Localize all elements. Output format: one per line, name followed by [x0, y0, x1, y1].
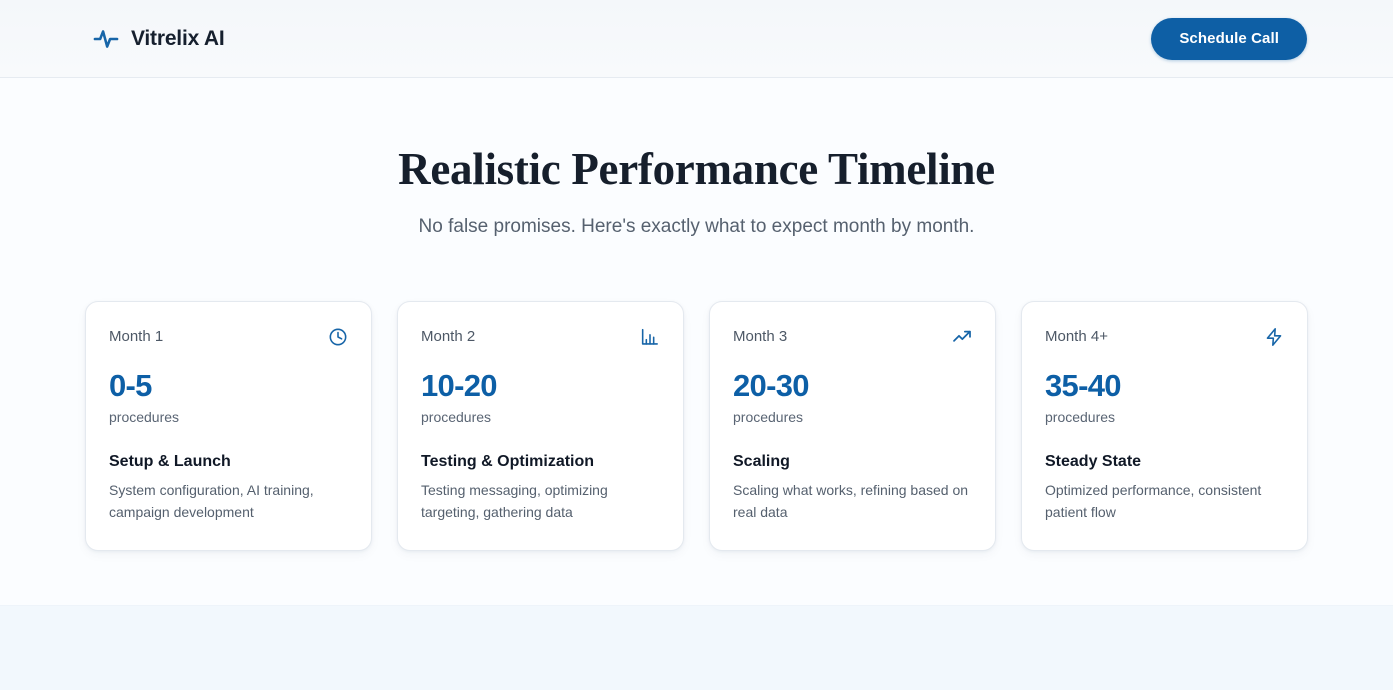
clock-icon: [328, 327, 348, 347]
card-month-label: Month 1: [109, 329, 163, 344]
card-header: Month 2: [421, 326, 660, 348]
card-header: Month 3: [733, 326, 972, 348]
card-range-value: 35-40: [1045, 369, 1284, 402]
card-header: Month 4+: [1045, 326, 1284, 348]
card-description: Optimized performance, consistent patien…: [1045, 480, 1284, 523]
card-month-label: Month 4+: [1045, 329, 1108, 344]
activity-pulse-icon: [92, 25, 120, 53]
card-range-value: 10-20: [421, 369, 660, 402]
timeline-cards-row: Month 1 0-5 procedures Setup & Launch Sy…: [0, 301, 1393, 551]
timeline-card[interactable]: Month 4+ 35-40 procedures Steady State O…: [1021, 301, 1308, 551]
timeline-card[interactable]: Month 2 10-20 procedures Testing & Optim…: [397, 301, 684, 551]
page-subtitle: No false promises. Here's exactly what t…: [0, 214, 1393, 241]
trending-up-icon: [952, 327, 972, 347]
site-header: Vitrelix AI Schedule Call: [0, 0, 1393, 78]
card-title: Setup & Launch: [109, 452, 348, 471]
card-unit-label: procedures: [421, 409, 660, 426]
bar-chart-icon: [640, 327, 660, 347]
card-range-value: 20-30: [733, 369, 972, 402]
card-description: Scaling what works, refining based on re…: [733, 480, 972, 523]
timeline-card[interactable]: Month 1 0-5 procedures Setup & Launch Sy…: [85, 301, 372, 551]
schedule-call-button[interactable]: Schedule Call: [1151, 18, 1307, 60]
brand-name: Vitrelix AI: [131, 27, 225, 51]
card-unit-label: procedures: [733, 409, 972, 426]
card-title: Testing & Optimization: [421, 452, 660, 471]
card-range-value: 0-5: [109, 369, 348, 402]
card-unit-label: procedures: [1045, 409, 1284, 426]
footer-band: [0, 605, 1393, 690]
card-unit-label: procedures: [109, 409, 348, 426]
card-title: Steady State: [1045, 452, 1284, 471]
card-title: Scaling: [733, 452, 972, 471]
brand-logo[interactable]: Vitrelix AI: [92, 25, 225, 53]
zap-icon: [1264, 327, 1284, 347]
card-month-label: Month 2: [421, 329, 475, 344]
card-month-label: Month 3: [733, 329, 787, 344]
page-title: Realistic Performance Timeline: [0, 144, 1393, 194]
card-header: Month 1: [109, 326, 348, 348]
timeline-section: Realistic Performance Timeline No false …: [0, 78, 1393, 605]
card-description: System configuration, AI training, campa…: [109, 480, 348, 523]
timeline-card[interactable]: Month 3 20-30 procedures Scaling Scaling…: [709, 301, 996, 551]
card-description: Testing messaging, optimizing targeting,…: [421, 480, 660, 523]
